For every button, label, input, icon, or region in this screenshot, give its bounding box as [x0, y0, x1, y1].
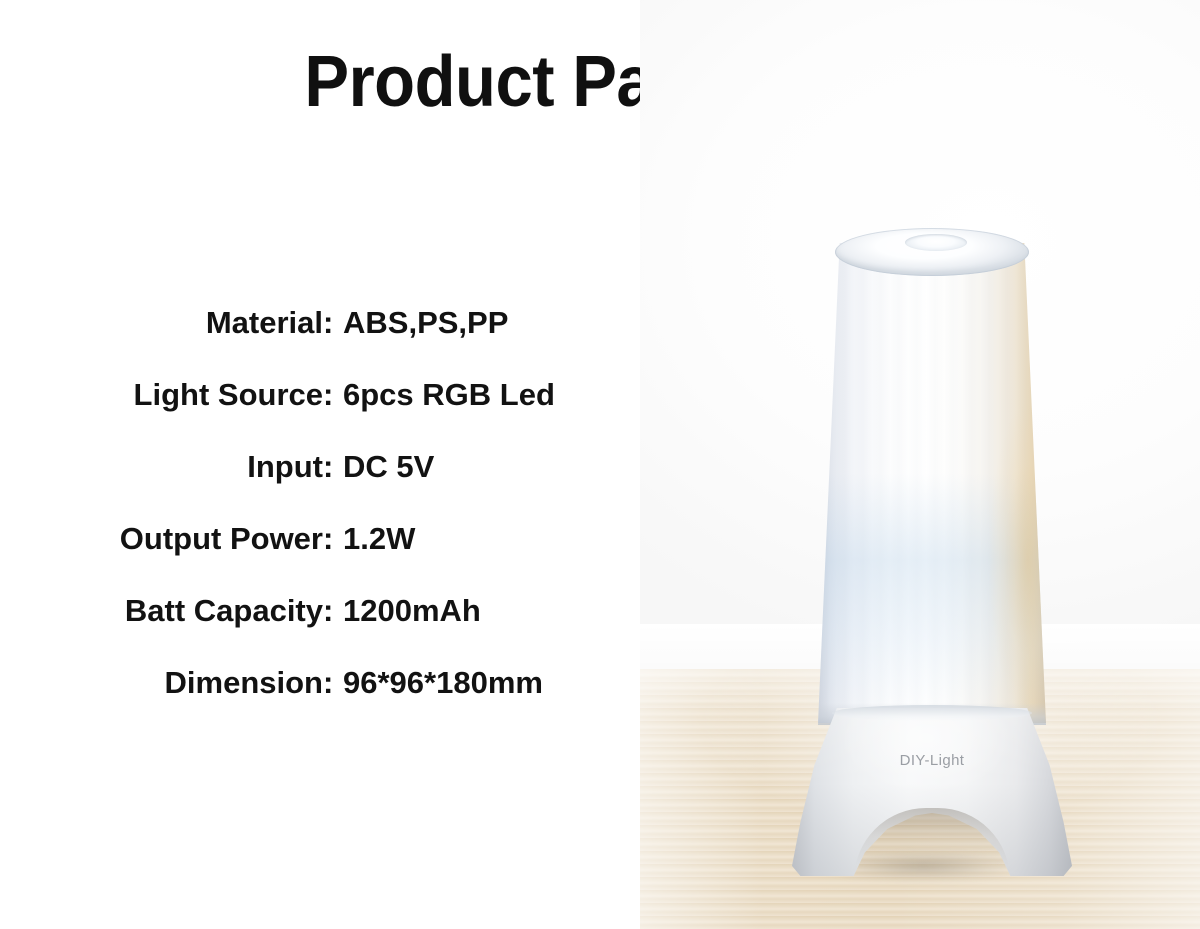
spec-colon: : — [323, 377, 339, 413]
specification-list: Material : ABS,PS,PP Light Source : 6pcs… — [18, 305, 618, 737]
spec-value: DC 5V — [339, 449, 434, 485]
lamp-top-lens — [905, 234, 967, 251]
spec-value: 1200mAh — [339, 593, 481, 629]
night-light-lamp: DIY-Light — [640, 0, 1200, 929]
spec-label: Dimension — [18, 665, 323, 701]
spec-label: Output Power — [18, 521, 323, 557]
spec-row-batt-capacity: Batt Capacity : 1200mAh — [18, 593, 618, 665]
spec-row-material: Material : ABS,PS,PP — [18, 305, 618, 377]
spec-value: ABS,PS,PP — [339, 305, 508, 341]
spec-colon: : — [323, 521, 339, 557]
spec-value: 6pcs RGB Led — [339, 377, 555, 413]
lamp-base: DIY-Light — [792, 708, 1072, 876]
spec-row-dimension: Dimension : 96*96*180mm — [18, 665, 618, 737]
spec-colon: : — [323, 665, 339, 701]
spec-value: 1.2W — [339, 521, 415, 557]
spec-value: 96*96*180mm — [339, 665, 543, 701]
spec-row-output-power: Output Power : 1.2W — [18, 521, 618, 593]
spec-colon: : — [323, 449, 339, 485]
spec-row-input: Input : DC 5V — [18, 449, 618, 521]
spec-label: Input — [18, 449, 323, 485]
spec-colon: : — [323, 305, 339, 341]
spec-label: Batt Capacity — [18, 593, 323, 629]
lamp-base-top-lip — [832, 705, 1032, 721]
spec-colon: : — [323, 593, 339, 629]
lamp-diffuser-warm-highlight — [818, 243, 1046, 723]
spec-label: Light Source — [18, 377, 323, 413]
product-parameter-page: Product Parameter Material : ABS,PS,PP L… — [0, 0, 1200, 929]
brand-label: DIY-Light — [792, 752, 1072, 769]
spec-label: Material — [18, 305, 323, 341]
spec-row-light-source: Light Source : 6pcs RGB Led — [18, 377, 618, 449]
product-photo: DIY-Light 96mm 180mm — [640, 0, 1200, 929]
